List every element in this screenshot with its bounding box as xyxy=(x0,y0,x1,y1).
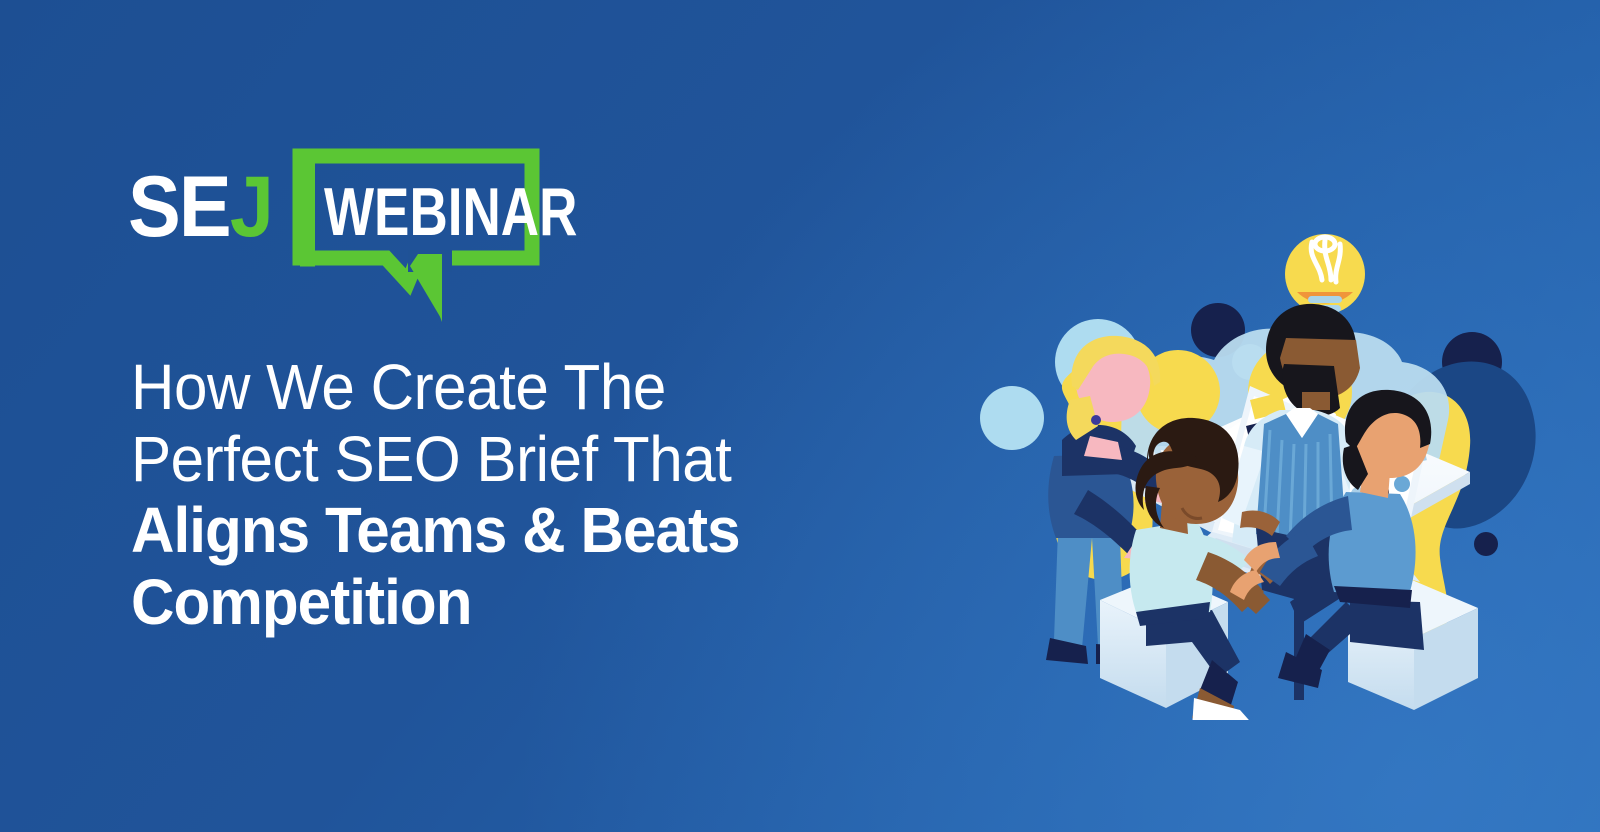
team-collaboration-illustration xyxy=(950,100,1570,720)
webinar-label: WEBINAR xyxy=(324,178,577,246)
headline-line-3: Aligns Teams & Beats xyxy=(131,495,864,567)
headline-line-1: How We Create The xyxy=(131,352,864,424)
webinar-promo-banner: SEJ WEBINAR How We Create The Perfect SE… xyxy=(0,0,1600,832)
page-title: How We Create The Perfect SEO Brief That… xyxy=(131,352,911,639)
headline-line-4: Competition xyxy=(131,567,864,639)
sej-wordmark-j: J xyxy=(230,159,272,255)
headline-line-2: Perfect SEO Brief That xyxy=(131,424,864,496)
sej-wordmark-se: SE xyxy=(128,159,230,255)
sej-wordmark: SEJ xyxy=(128,164,272,250)
sej-webinar-logo: SEJ WEBINAR xyxy=(128,140,588,320)
